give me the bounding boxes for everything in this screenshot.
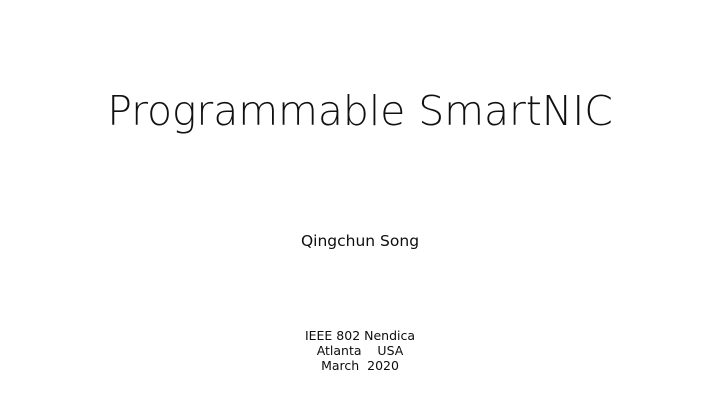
author-text-box: Qingchun Song: [0, 231, 720, 251]
presentation-title-slide: Programmable SmartNIC Qingchun Song IEEE…: [0, 0, 720, 405]
venue-organization: IEEE 802 Nendica: [0, 328, 720, 343]
venue-location: Atlanta USA: [0, 343, 720, 358]
title-text-box: Programmable SmartNIC: [0, 86, 720, 136]
venue-text-box: IEEE 802 Nendica Atlanta USA March 2020: [0, 328, 720, 373]
page-title: Programmable SmartNIC: [0, 86, 720, 136]
venue-date: March 2020: [0, 358, 720, 373]
author-name: Qingchun Song: [0, 231, 720, 251]
